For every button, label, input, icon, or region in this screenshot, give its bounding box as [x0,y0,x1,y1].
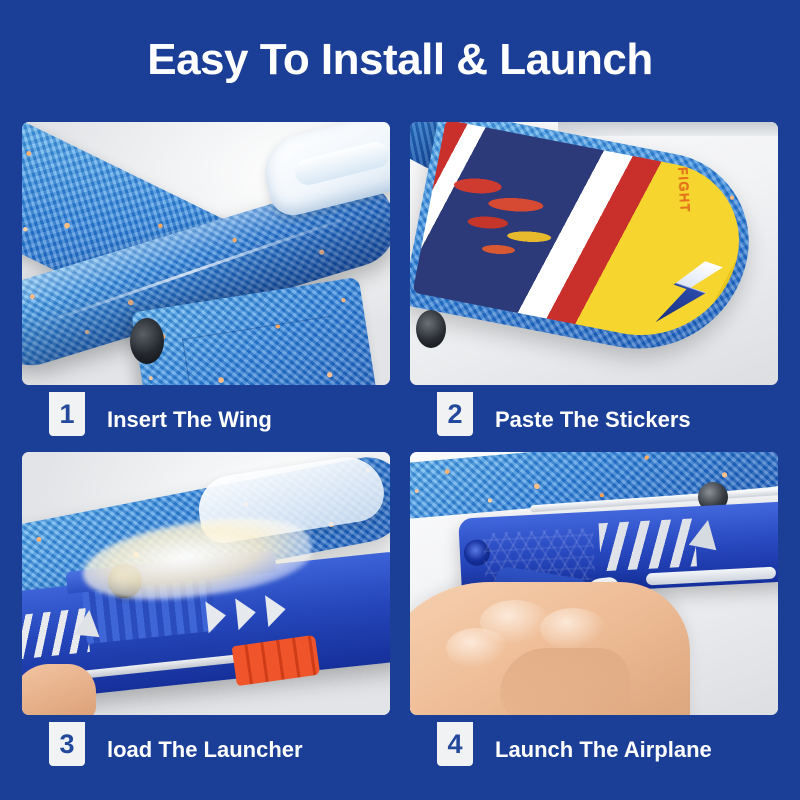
step-number-badge-2: 2 [437,392,473,436]
triangle-icon [74,609,103,638]
step-label-2: Paste The Stickers [495,407,691,433]
step-label-1: Insert The Wing [107,407,272,433]
step-label-3: load The Launcher [107,737,303,763]
step-card-2: REQUEST TO FIGHT 2 Paste The Stickers [410,122,778,450]
canopy-highlight [292,139,390,187]
step-3-caption: 3 load The Launcher [22,720,390,780]
step-number-badge-3: 3 [49,722,85,766]
step-3-photo [22,452,390,715]
launcher-stripe-decal [599,518,697,571]
chevron-right-icon [235,596,257,630]
step-1-photo [22,122,390,385]
step-4-photo [410,452,778,715]
triangle-icon [689,517,722,550]
chevron-right-icon [265,593,287,627]
landing-wheel [130,318,164,364]
hand-knuckle-highlight [540,608,606,650]
step-1-caption: 1 Insert The Wing [22,390,390,450]
tail-seam-vertical [182,339,198,385]
step-number-badge-4: 4 [437,722,473,766]
steps-grid: 1 Insert The Wing REQUEST TO FIGHT 2 Pas… [22,122,778,762]
step-label-4: Launch The Airplane [495,737,712,763]
hand-shading [500,648,630,715]
step-card-4: 4 Launch The Airplane [410,452,778,780]
hand-knuckle-highlight [446,628,508,668]
page-title: Easy To Install & Launch [0,33,800,87]
step-2-photo: REQUEST TO FIGHT [410,122,778,385]
background-shelf-edge [558,122,778,136]
hand-finger [22,664,96,715]
tail-seam-horizontal [182,316,330,340]
chevron-right-icon [205,600,227,634]
step-card-1: 1 Insert The Wing [22,122,390,450]
flame-graphic [443,158,599,286]
step-number-badge-1: 1 [49,392,85,436]
step-2-caption: 2 Paste The Stickers [410,390,778,450]
step-card-3: 3 load The Launcher [22,452,390,780]
landing-wheel [416,310,446,348]
step-4-caption: 4 Launch The Airplane [410,720,778,780]
